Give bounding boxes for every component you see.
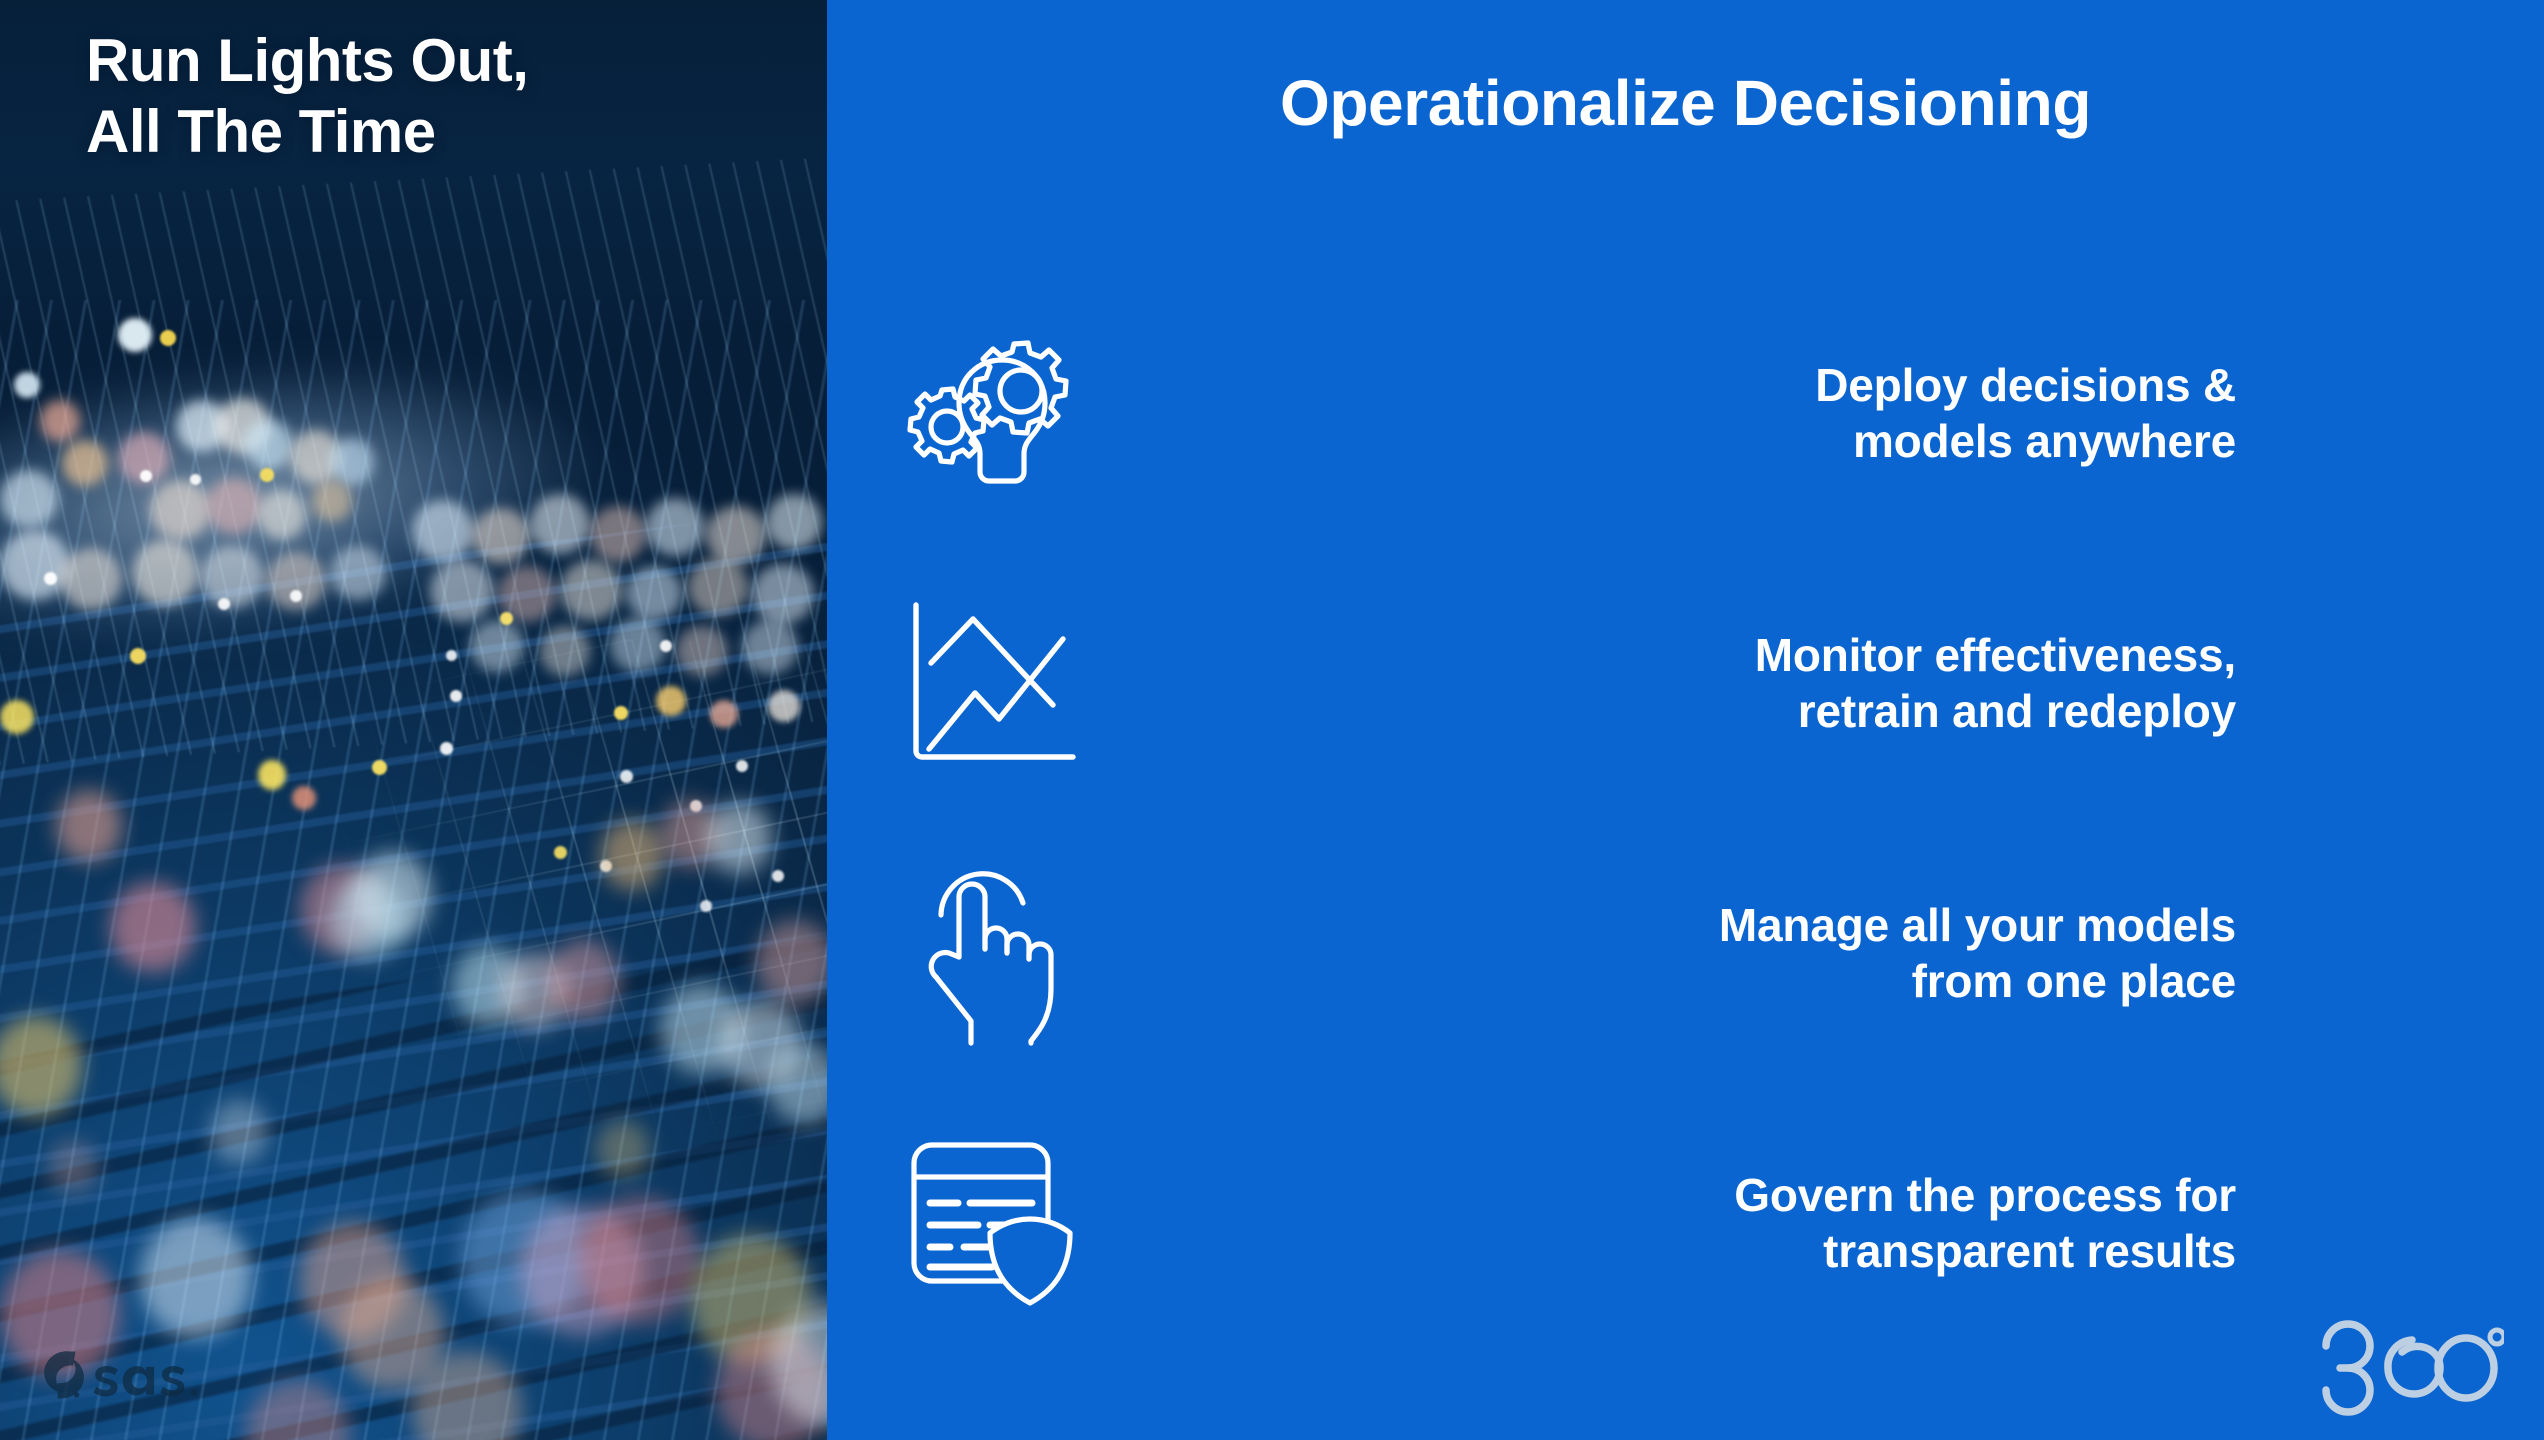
left-panel-title: Run Lights Out, All The Time xyxy=(86,26,746,168)
list-item: Monitor effectiveness, retrain and redep… xyxy=(827,548,2544,818)
lightbulb-gears-icon xyxy=(827,278,1147,548)
360-degree-logo xyxy=(2316,1320,2504,1416)
list-item: Govern the process for transparent resul… xyxy=(827,1088,2544,1358)
sas-logo xyxy=(34,1338,224,1412)
left-image-panel: Run Lights Out, All The Time xyxy=(0,0,827,1440)
page-title: Operationalize Decisioning xyxy=(827,66,2544,140)
list-item: Manage all your models from one place xyxy=(827,818,2544,1088)
document-shield-icon xyxy=(827,1088,1147,1358)
list-item-label: Govern the process for transparent resul… xyxy=(1147,1167,2544,1279)
feature-list: Deploy decisions & models anywhere Monit… xyxy=(827,278,2544,1358)
list-item-label: Manage all your models from one place xyxy=(1147,897,2544,1009)
tapping-hand-icon xyxy=(827,818,1147,1088)
list-item: Deploy decisions & models anywhere xyxy=(827,278,2544,548)
right-content-panel: Operationalize Decisioning xyxy=(827,0,2544,1440)
line-chart-icon xyxy=(827,548,1147,818)
list-item-label: Deploy decisions & models anywhere xyxy=(1147,357,2544,469)
list-item-label: Monitor effectiveness, retrain and redep… xyxy=(1147,627,2544,739)
slide-root: Run Lights Out, All The Time Operational… xyxy=(0,0,2544,1440)
